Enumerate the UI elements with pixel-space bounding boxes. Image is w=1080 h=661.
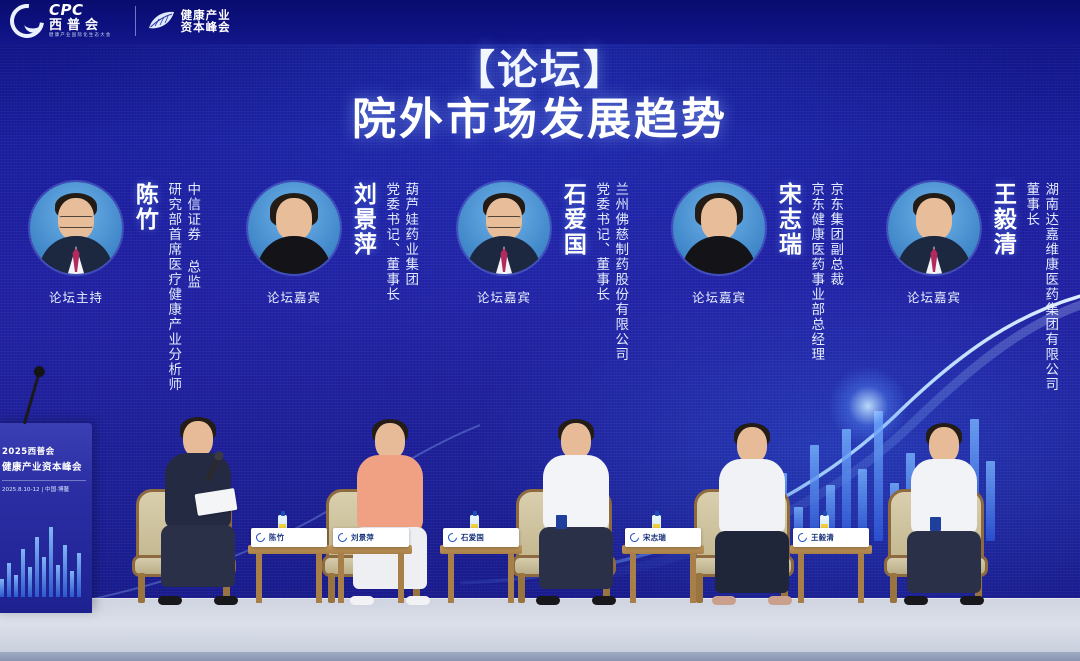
name-placard-2: 刘景萍 xyxy=(333,528,409,547)
side-table-3: 石爱国 xyxy=(440,545,522,603)
forum-title-line1: 【论坛】 xyxy=(0,48,1080,94)
panelist-org-2-line1: 葫芦娃药业集团 xyxy=(401,182,417,302)
panelist-avatar-2 xyxy=(248,182,340,274)
panelist-name-4: 宋志瑞 xyxy=(775,182,799,257)
podium-line1: 2025西普会 xyxy=(2,445,86,457)
summit-logo: 健康产业 资本峰会 xyxy=(147,9,231,34)
panelist-org-3: 兰州佛慈制药股份有限公司 党委书记、董事长 xyxy=(589,182,627,362)
summit-logo-line2: 资本峰会 xyxy=(181,21,231,33)
panelist-role-5: 论坛嘉宾 xyxy=(880,287,988,306)
panelist-name-3: 石爱国 xyxy=(560,182,584,257)
seated-panelist-5 xyxy=(898,427,990,599)
panelist-org-5: 湖南达嘉维康医药集团有限公司 董事长 xyxy=(1019,182,1057,392)
panelist-list: 论坛主持 陈竹 中信证券 总监 研究部首席医疗健康产业分析师 论坛嘉宾 刘景萍 … xyxy=(0,182,1080,422)
panelist-org-1-line2: 研究部首席医疗健康产业分析师 xyxy=(164,182,180,392)
panelist-avatar-5 xyxy=(888,182,980,274)
name-placard-3: 石爱国 xyxy=(443,528,519,547)
name-placard-5: 王毅清 xyxy=(793,528,869,547)
name-badge-3 xyxy=(556,515,567,529)
placard-name-2: 刘景萍 xyxy=(351,532,374,543)
panelist-org-5-line2: 董事长 xyxy=(1022,182,1038,392)
panelist-org-3-line2: 党委书记、董事长 xyxy=(592,182,608,362)
placard-logo-icon-3 xyxy=(446,531,459,544)
name-badge-5 xyxy=(930,517,941,531)
logo-divider xyxy=(135,6,136,36)
leaf-icon xyxy=(147,11,175,31)
forum-title-line2: 院外市场发展趋势 xyxy=(0,94,1080,147)
panelist-role-2: 论坛嘉宾 xyxy=(240,287,348,306)
conference-stage-photo: CPC 西普会 健康产业国际化生态大会 健康产业 资本峰会 【论坛】 院外市场发… xyxy=(0,0,1080,661)
podium-line2: 健康产业资本峰会 xyxy=(2,459,86,473)
panelist-name-5: 王毅清 xyxy=(990,182,1014,257)
cpc-ring-icon xyxy=(3,0,51,45)
panelist-card-5: 论坛嘉宾 王毅清 湖南达嘉维康医药集团有限公司 董事长 xyxy=(880,182,1057,392)
panelist-org-1: 中信证券 总监 研究部首席医疗健康产业分析师 xyxy=(161,182,199,392)
panelist-card-3: 论坛嘉宾 石爱国 兰州佛慈制药股份有限公司 党委书记、董事长 xyxy=(450,182,627,362)
placard-logo-icon-1 xyxy=(254,531,267,544)
placard-logo-icon-4 xyxy=(628,531,641,544)
forum-title: 【论坛】 院外市场发展趋势 xyxy=(0,48,1080,147)
panelist-card-2: 论坛嘉宾 刘景萍 葫芦娃药业集团 党委书记、董事长 xyxy=(240,182,417,306)
placard-name-3: 石爱国 xyxy=(461,532,484,543)
panelist-role-4: 论坛嘉宾 xyxy=(665,287,773,306)
name-placard-4: 宋志瑞 xyxy=(625,528,701,547)
placard-name-4: 宋志瑞 xyxy=(643,532,666,543)
placard-name-5: 王毅清 xyxy=(811,532,834,543)
seated-panelist-4 xyxy=(706,427,798,599)
panelist-org-2-line2: 党委书记、董事长 xyxy=(382,182,398,302)
stage-front-lip xyxy=(0,652,1080,661)
panelist-org-1-line1: 中信证券 总监 xyxy=(183,182,199,392)
panelist-org-4-line1: 京东集团副总裁 xyxy=(826,182,842,362)
panelist-name-1: 陈竹 xyxy=(132,182,156,232)
event-logo-bar: CPC 西普会 健康产业国际化生态大会 健康产业 资本峰会 xyxy=(10,0,231,42)
podium-line3: 2025.8.10-12 | 中国·博鳌 xyxy=(2,480,86,493)
panelist-org-5-line1: 湖南达嘉维康医药集团有限公司 xyxy=(1041,182,1057,392)
placard-logo-icon-2 xyxy=(336,531,349,544)
name-placard-1: 陈竹 xyxy=(251,528,327,547)
placard-logo-icon-5 xyxy=(796,531,809,544)
panelist-avatar-4 xyxy=(673,182,765,274)
placard-name-1: 陈竹 xyxy=(269,532,284,543)
side-table-5: 王毅清 xyxy=(790,545,872,603)
panelist-role-1: 论坛主持 xyxy=(22,287,130,306)
seated-panelist-3 xyxy=(530,423,622,599)
panelist-name-2: 刘景萍 xyxy=(350,182,374,257)
podium-chart-graphic xyxy=(0,519,88,597)
cpc-logo-sub: 健康产业国际化生态大会 xyxy=(49,34,112,38)
panelist-role-3: 论坛嘉宾 xyxy=(450,287,558,306)
cpc-logo: CPC 西普会 健康产业国际化生态大会 xyxy=(10,3,124,38)
panelist-org-4-line2: 京东健康医药事业部总经理 xyxy=(807,182,823,362)
panelist-org-3-line1: 兰州佛慈制药股份有限公司 xyxy=(611,182,627,362)
panelist-org-4: 京东集团副总裁 京东健康医药事业部总经理 xyxy=(804,182,842,362)
side-table-2: 刘景萍 xyxy=(330,545,412,603)
panelist-avatar-1 xyxy=(30,182,122,274)
panelist-card-1: 论坛主持 陈竹 中信证券 总监 研究部首席医疗健康产业分析师 xyxy=(22,182,199,392)
cpc-logo-en: CPC xyxy=(49,3,112,18)
panelist-avatar-3 xyxy=(458,182,550,274)
side-table-1: 陈竹 xyxy=(248,545,330,603)
speaker-podium: 2025西普会 健康产业资本峰会 2025.8.10-12 | 中国·博鳌 xyxy=(0,423,92,613)
panelist-org-2: 葫芦娃药业集团 党委书记、董事长 xyxy=(379,182,417,302)
panelist-card-4: 论坛嘉宾 宋志瑞 京东集团副总裁 京东健康医药事业部总经理 xyxy=(665,182,842,362)
cpc-logo-cn: 西普会 xyxy=(49,19,112,32)
side-table-4: 宋志瑞 xyxy=(622,545,704,603)
